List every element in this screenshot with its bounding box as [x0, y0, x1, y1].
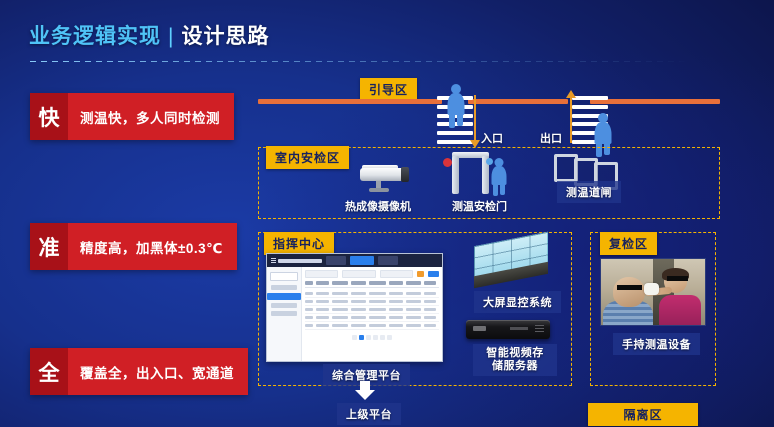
- page-next[interactable]: [387, 335, 392, 340]
- guide-line-mid: [468, 99, 568, 104]
- feature-char: 全: [30, 348, 68, 395]
- guide-line-left: [258, 99, 442, 104]
- menu-icon[interactable]: [271, 258, 276, 263]
- page-1[interactable]: [359, 335, 364, 340]
- sw-nav-item-active[interactable]: [267, 293, 301, 300]
- page-title-sub: 设计思路: [181, 25, 269, 48]
- sw-col-header: [424, 281, 436, 285]
- sw-reset-button[interactable]: [417, 271, 424, 277]
- device-label-turnstile: 测温道闸: [557, 181, 621, 203]
- page-title: 业务逻辑实现|设计思路: [29, 20, 269, 50]
- sw-nav-item[interactable]: [271, 303, 297, 308]
- platform-label-upper: 上级平台: [337, 403, 401, 425]
- feature-badge-accurate: 准 精度高，加黑体±0.3℃: [30, 223, 237, 270]
- person-at-security-gate: [490, 158, 508, 196]
- page-2[interactable]: [366, 335, 371, 340]
- page-prev[interactable]: [352, 335, 357, 340]
- sw-nav-item[interactable]: [271, 285, 297, 290]
- zone-badge-guidance: 引导区: [360, 78, 417, 101]
- feature-text: 测温快，多人同时检测: [68, 93, 234, 140]
- device-label-storage-server: 智能视频存储服务器: [473, 344, 557, 376]
- photo-censor-bar-nurse: [667, 276, 689, 281]
- photo-thermometer-glove: [644, 283, 660, 295]
- device-label-handheld: 手持测温设备: [613, 333, 700, 355]
- title-separator: |: [168, 25, 174, 49]
- handheld-thermometer-photo: [600, 258, 706, 326]
- sw-filter-field[interactable]: [342, 270, 375, 278]
- feature-badge-complete: 全 覆盖全，出入口、宽通道: [30, 348, 248, 395]
- photo-patient-head: [613, 277, 644, 306]
- table-row[interactable]: [305, 290, 439, 298]
- sw-org-select[interactable]: [270, 272, 298, 281]
- sw-col-header: [305, 281, 313, 285]
- sw-sidebar: [267, 267, 302, 361]
- sw-filter-field[interactable]: [380, 270, 413, 278]
- management-platform-screenshot[interactable]: [266, 253, 443, 362]
- zone-badge-command-center: 指挥中心: [264, 232, 334, 255]
- sw-col-header: [389, 281, 403, 285]
- arrow-entrance-down: [474, 95, 476, 141]
- zone-badge-recheck: 复检区: [600, 232, 657, 255]
- slide-canvas: 业务逻辑实现|设计思路 快 测温快，多人同时检测 准 精度高，加黑体±0.3℃ …: [0, 0, 774, 427]
- sw-body: [267, 267, 442, 361]
- sw-filter-bar: [305, 270, 439, 278]
- storage-server-icon: [466, 320, 550, 339]
- page-4[interactable]: [380, 335, 385, 340]
- photo-nurse-body: [659, 295, 701, 325]
- table-row[interactable]: [305, 306, 439, 314]
- sw-tab-1[interactable]: [326, 256, 346, 265]
- arrow-exit-up: [570, 97, 572, 143]
- sw-col-header: [332, 281, 348, 285]
- security-gate-icon: [452, 152, 489, 196]
- sw-nav-item[interactable]: [271, 311, 297, 316]
- sw-tab-3[interactable]: [378, 256, 398, 265]
- guide-line-right: [590, 99, 720, 104]
- arrow-to-upper-platform: [355, 381, 375, 401]
- zone-badge-indoor-security: 室内安检区: [266, 146, 349, 169]
- device-label-video-wall: 大屏显控系统: [474, 291, 561, 313]
- label-entrance: 入口: [481, 130, 503, 146]
- thermal-camera-icon: [360, 162, 412, 194]
- sw-col-header: [406, 281, 421, 285]
- table-row[interactable]: [305, 298, 439, 306]
- page-3[interactable]: [373, 335, 378, 340]
- photo-censor-bar-patient: [617, 285, 642, 290]
- feature-char: 快: [30, 93, 68, 140]
- sw-main: [302, 267, 442, 361]
- sw-table-header: [305, 281, 439, 288]
- feature-text: 覆盖全，出入口、宽通道: [68, 348, 248, 395]
- sw-col-header: [316, 281, 329, 285]
- table-row[interactable]: [305, 322, 439, 330]
- header-divider: [30, 61, 730, 62]
- sw-topbar: [267, 254, 442, 267]
- sw-filter-field[interactable]: [305, 270, 338, 278]
- sw-tab-active[interactable]: [350, 256, 374, 265]
- sw-pagination[interactable]: [305, 335, 439, 340]
- sw-brand: [271, 258, 322, 263]
- feature-text: 精度高，加黑体±0.3℃: [68, 223, 237, 270]
- sw-brand-text: [278, 259, 322, 263]
- zone-badge-isolation: 隔离区: [588, 403, 698, 426]
- video-wall-icon: [474, 239, 552, 287]
- page-title-main: 业务逻辑实现: [29, 25, 161, 48]
- label-exit: 出口: [540, 130, 562, 146]
- feature-badge-fast: 快 测温快，多人同时检测: [30, 93, 234, 140]
- sw-col-header: [369, 281, 386, 285]
- sw-search-button[interactable]: [428, 271, 439, 277]
- sw-col-header: [351, 281, 366, 285]
- device-label-thermal-camera: 热成像摄像机: [345, 198, 411, 214]
- person-walking-entrance: [445, 84, 467, 128]
- feature-char: 准: [30, 223, 68, 270]
- device-label-security-gate: 测温安检门: [452, 198, 507, 214]
- table-row[interactable]: [305, 314, 439, 322]
